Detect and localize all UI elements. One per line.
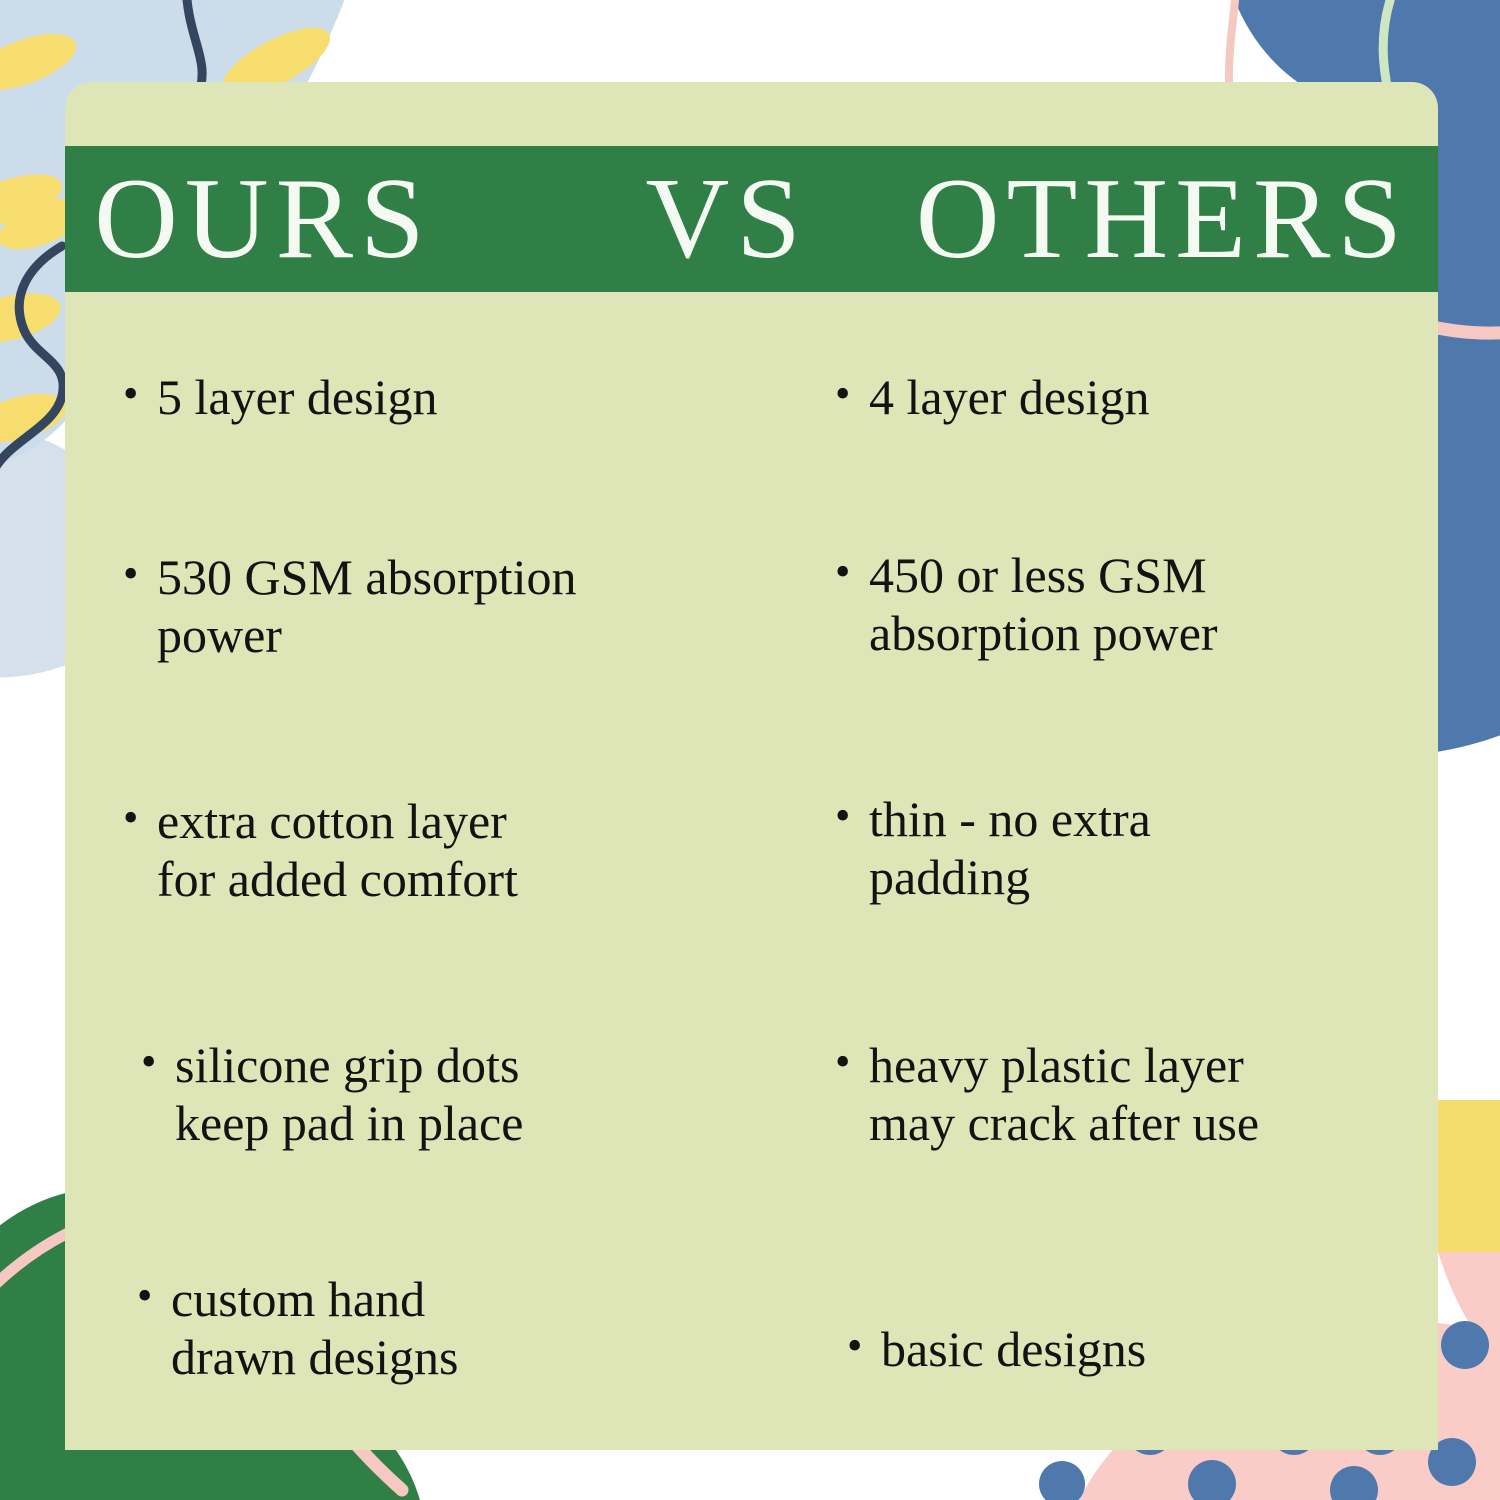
bullet-dot-icon: •: [137, 1270, 171, 1321]
comparison-card: OURS VS OTHERS • 5 layer design • 530 GS…: [65, 82, 1438, 1450]
yellow-block-icon: [1436, 1100, 1500, 1252]
list-item: • 450 or less GSM absorption power: [835, 546, 1428, 662]
list-item-label: 4 layer design: [869, 368, 1149, 426]
bullet-dot-icon: •: [141, 1036, 175, 1087]
list-item-label: heavy plastic layer may crack after use: [869, 1036, 1259, 1152]
list-item-label: 450 or less GSM absorption power: [869, 546, 1218, 662]
bullet-dot-icon: •: [847, 1320, 881, 1371]
bullet-dot-icon: •: [835, 368, 869, 419]
list-item-label: 5 layer design: [157, 368, 437, 426]
bullet-list-others: • 4 layer design • 450 or less GSM absor…: [835, 368, 1428, 1378]
column-others: • 4 layer design • 450 or less GSM absor…: [807, 292, 1438, 1450]
list-item: • custom hand drawn designs: [137, 1270, 797, 1386]
list-item: • 5 layer design: [123, 368, 797, 426]
list-item-label: thin - no extra padding: [869, 790, 1151, 906]
card-header-banner: OURS VS OTHERS: [65, 146, 1438, 292]
polka-dot-icon: [1039, 1461, 1085, 1500]
comparison-columns: • 5 layer design • 530 GSM absorption po…: [65, 292, 1438, 1450]
bullet-dot-icon: •: [123, 548, 157, 599]
list-item-label: silicone grip dots keep pad in place: [175, 1036, 523, 1152]
list-item: • thin - no extra padding: [835, 790, 1428, 906]
infographic-root: OURS VS OTHERS • 5 layer design • 530 GS…: [0, 0, 1500, 1500]
list-item: • basic designs: [847, 1320, 1428, 1378]
list-item: • 530 GSM absorption power: [123, 548, 797, 664]
list-item-label: basic designs: [881, 1320, 1146, 1378]
polka-dot-icon: [1441, 1321, 1489, 1369]
list-item: • silicone grip dots keep pad in place: [141, 1036, 797, 1152]
bullet-list-ours: • 5 layer design • 530 GSM absorption po…: [123, 368, 797, 1386]
list-item: • 4 layer design: [835, 368, 1428, 426]
list-item-label: 530 GSM absorption power: [157, 548, 576, 664]
column-ours: • 5 layer design • 530 GSM absorption po…: [65, 292, 807, 1450]
bullet-dot-icon: •: [835, 1036, 869, 1087]
bullet-dot-icon: •: [835, 790, 869, 841]
list-item-label: custom hand drawn designs: [171, 1270, 458, 1386]
bullet-dot-icon: •: [123, 792, 157, 843]
bullet-dot-icon: •: [123, 368, 157, 419]
list-item: • extra cotton layer for added comfort: [123, 792, 797, 908]
list-item-label: extra cotton layer for added comfort: [157, 792, 518, 908]
bullet-dot-icon: •: [835, 546, 869, 597]
list-item: • heavy plastic layer may crack after us…: [835, 1036, 1428, 1152]
page-title: OURS VS OTHERS: [94, 161, 1409, 277]
